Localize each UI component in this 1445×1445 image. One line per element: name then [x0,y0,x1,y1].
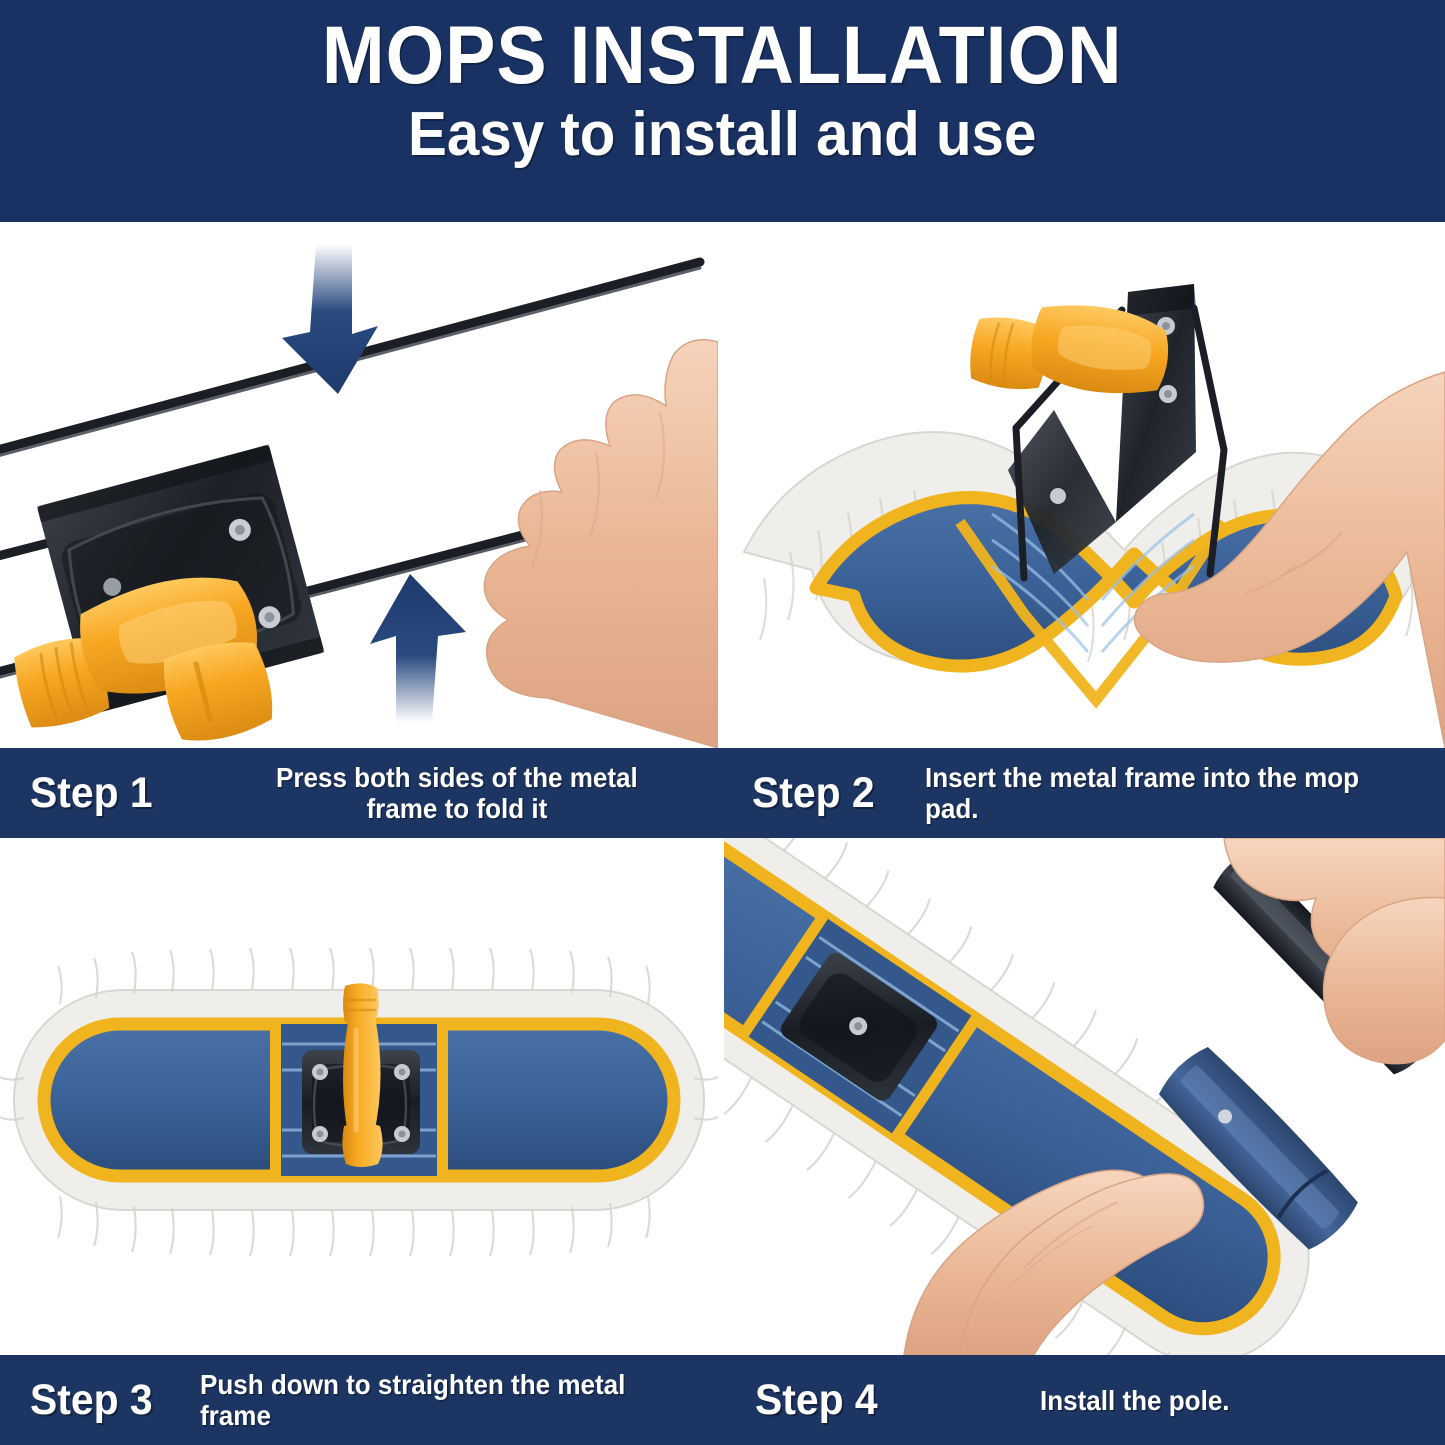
step-2-label-cell: Step 2 [752,748,952,838]
step-4-label-cell: Step 4 [755,1355,945,1445]
step-1-photo [0,222,718,748]
page-title: MOPS INSTALLATION [322,14,1123,98]
infographic-page: MOPS INSTALLATION Easy to install and us… [0,0,1445,1445]
step-4-description: Install the pole. [1040,1385,1230,1416]
step-2-description-cell: Insert the metal frame into the mop pad. [925,748,1435,838]
step-1-description-cell: Press both sides of the metal frame to f… [250,748,690,838]
step-3-photo [0,838,718,1355]
step-band-bottom: Step 3 Push down to straighten the metal… [0,1355,1445,1445]
step-4-description-cell: Install the pole. [1040,1355,1420,1445]
step-2-photo [724,222,1445,748]
step-2-label: Step 2 [752,771,875,816]
step-1-label-cell: Step 1 [30,748,240,838]
step-1-label: Step 1 [30,771,153,816]
step-3-label-cell: Step 3 [30,1355,210,1445]
step-4-label: Step 4 [755,1378,878,1423]
step-3-label: Step 3 [30,1378,153,1423]
header-banner: MOPS INSTALLATION Easy to install and us… [0,0,1445,222]
page-subtitle: Easy to install and use [408,102,1036,168]
step-1-description-line-1: Press both sides of the metal [276,762,638,793]
step-3-description-cell: Push down to straighten the metal frame [200,1355,720,1445]
step-4-photo [724,838,1445,1355]
step-band-middle: Step 1 Press both sides of the metal fra… [0,748,1445,838]
step-1-description: Press both sides of the metal frame to f… [276,762,638,824]
step-3-description: Push down to straighten the metal frame [200,1369,684,1431]
step-2-description: Insert the metal frame into the mop pad. [925,762,1399,824]
step-1-description-line-2: frame to fold it [276,793,638,824]
orange-connector [342,983,382,1167]
